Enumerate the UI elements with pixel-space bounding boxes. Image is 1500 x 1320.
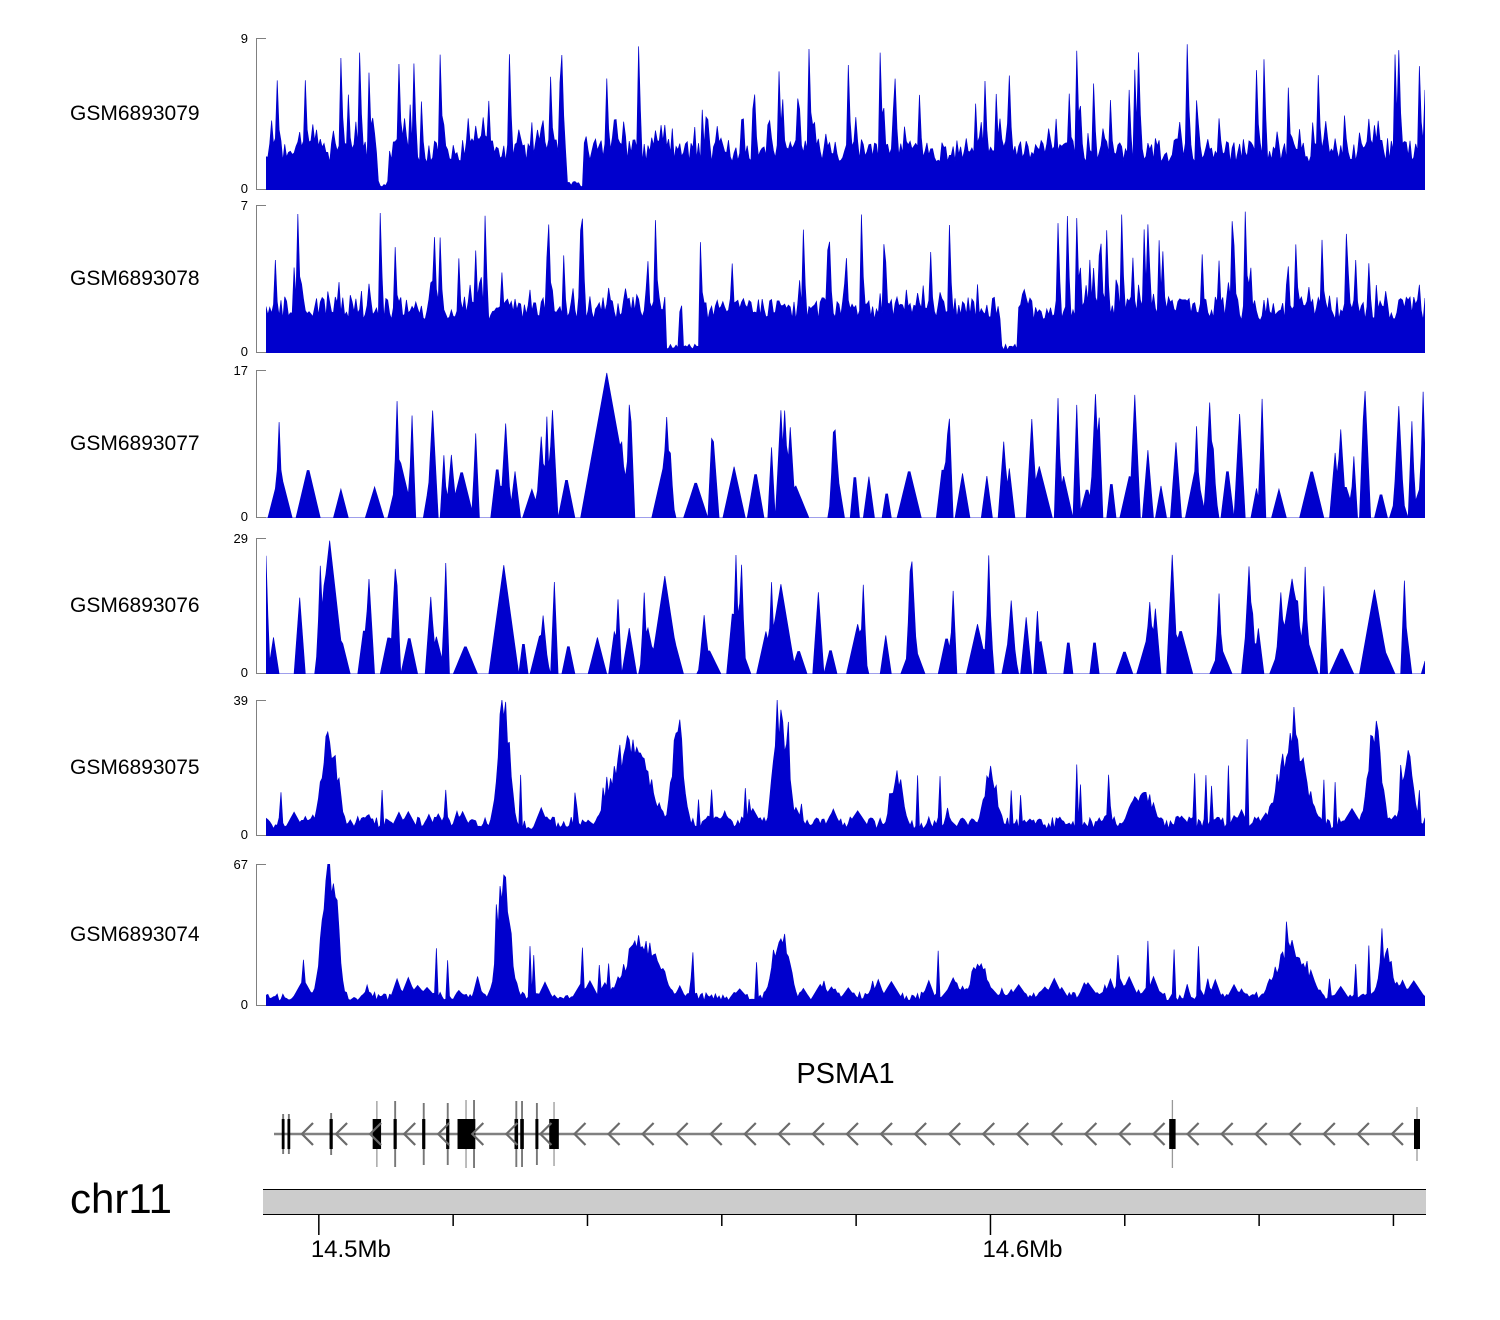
coverage-plot-gsm6893077[interactable]	[266, 370, 1425, 518]
track-label-gsm6893076: GSM6893076	[70, 595, 230, 616]
y-axis-max-2: 17	[128, 364, 248, 377]
y-axis-min-0: 0	[128, 182, 248, 195]
track-label-gsm6893079: GSM6893079	[70, 103, 230, 124]
y-axis-max-3: 29	[128, 532, 248, 545]
genome-axis-ticks	[263, 1215, 1426, 1237]
coverage-plot-gsm6893079[interactable]	[266, 38, 1425, 190]
y-axis-bracket-1	[256, 205, 266, 353]
y-axis-min-4: 0	[128, 828, 248, 841]
coverage-plot-gsm6893074[interactable]	[266, 864, 1425, 1006]
coverage-track-5: GSM6893074670	[0, 0, 1500, 1]
y-axis-max-4: 39	[128, 694, 248, 707]
y-axis-max-0: 9	[128, 32, 248, 45]
chromosome-label: chr11	[70, 1178, 172, 1220]
y-axis-max-1: 7	[128, 199, 248, 212]
track-label-gsm6893077: GSM6893077	[70, 433, 230, 454]
y-axis-max-5: 67	[128, 858, 248, 871]
y-axis-min-1: 0	[128, 345, 248, 358]
y-axis-bracket-2	[256, 370, 266, 518]
y-axis-min-3: 0	[128, 666, 248, 679]
track-label-gsm6893075: GSM6893075	[70, 757, 230, 778]
y-axis-min-5: 0	[128, 998, 248, 1011]
y-axis-bracket-5	[256, 864, 266, 1006]
track-label-gsm6893078: GSM6893078	[70, 268, 230, 289]
y-axis-bracket-4	[256, 700, 266, 836]
ideogram-bar[interactable]	[263, 1189, 1426, 1215]
gene-model-track[interactable]	[266, 1098, 1425, 1176]
track-label-gsm6893074: GSM6893074	[70, 924, 230, 945]
coverage-plot-gsm6893076[interactable]	[266, 538, 1425, 674]
y-axis-bracket-3	[256, 538, 266, 674]
axis-tick-label-left: 14.5Mb	[311, 1238, 391, 1262]
coverage-plot-gsm6893078[interactable]	[266, 205, 1425, 353]
y-axis-bracket-0	[256, 38, 266, 190]
coverage-plot-gsm6893075[interactable]	[266, 700, 1425, 836]
y-axis-min-2: 0	[128, 510, 248, 523]
genome-browser-figure: GSM689307990 GSM689307870 GSM6893077170 …	[0, 0, 1500, 1320]
gene-name-label: PSMA1	[266, 1060, 1425, 1089]
axis-tick-label-right: 14.6Mb	[982, 1238, 1062, 1262]
